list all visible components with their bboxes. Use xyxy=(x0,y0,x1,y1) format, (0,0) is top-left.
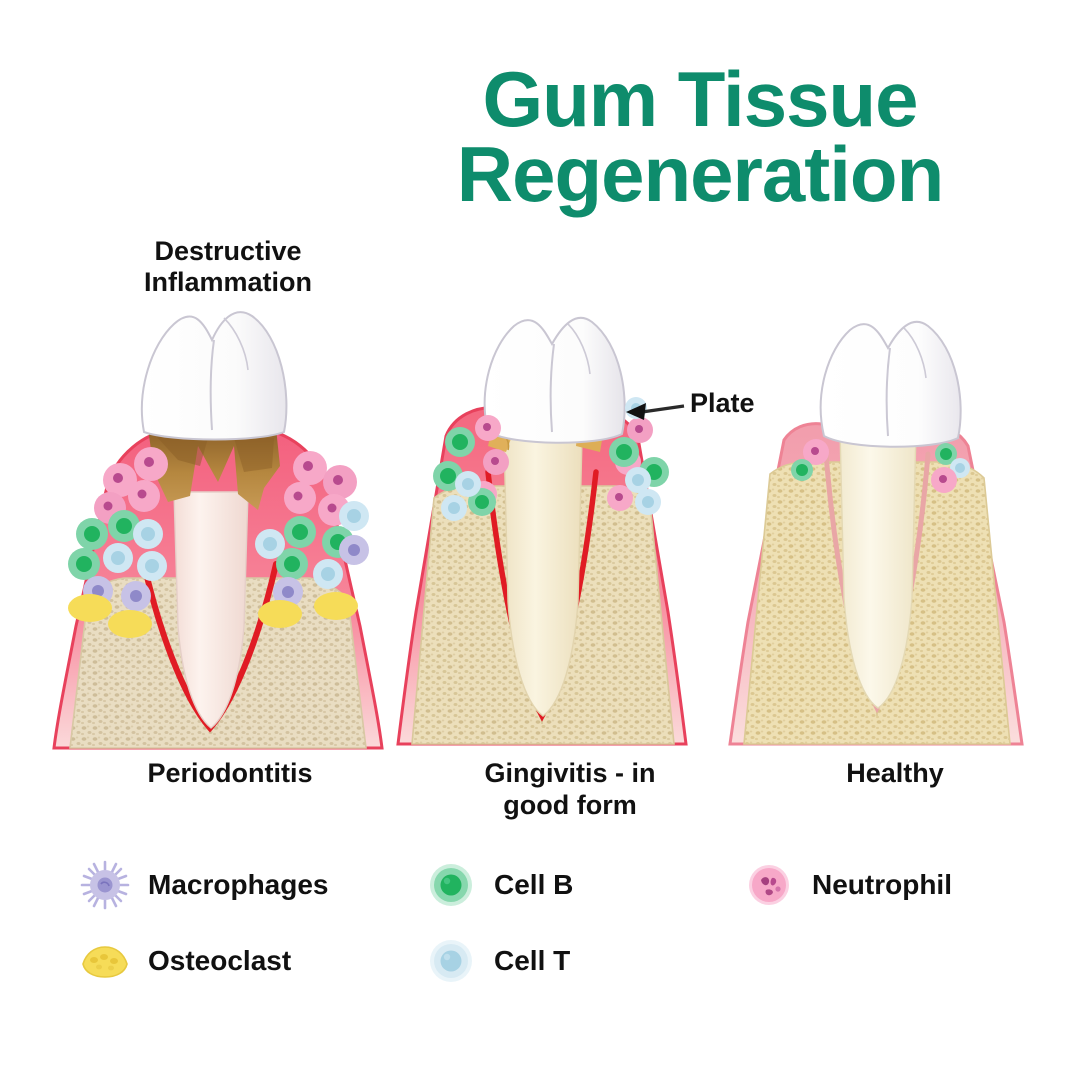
legend-label-cell-b: Cell B xyxy=(494,869,573,901)
plate-label: Plate xyxy=(690,388,755,419)
caption-gingivitis: Gingivitis - in good form xyxy=(410,758,730,822)
legend-label-cell-t: Cell T xyxy=(494,945,570,977)
destructive-inflammation-label: Destructive Inflammation xyxy=(88,236,368,298)
legend-item-osteoclast: Osteoclast xyxy=(78,934,291,988)
tooth-crown xyxy=(485,318,625,443)
legend-item-cell-b: Cell B xyxy=(424,858,573,912)
macrophage-cell-icon xyxy=(78,858,132,912)
caption-healthy: Healthy xyxy=(770,758,1020,790)
legend-label-neutrophil: Neutrophil xyxy=(812,869,952,901)
tooth-figure-healthy xyxy=(722,312,1032,752)
tooth-crown xyxy=(142,312,287,439)
caption-periodontitis-line-1: Periodontitis xyxy=(147,758,312,788)
caption-gingivitis-line-2: good form xyxy=(503,790,636,820)
osteoclast-cell-icon xyxy=(78,934,132,988)
caption-gingivitis-line-1: Gingivitis - in xyxy=(484,758,655,788)
tooth-figure-gingivitis xyxy=(392,312,692,752)
page-title: Gum Tissue Regeneration xyxy=(380,62,1020,212)
page-title-line-2: Regeneration xyxy=(380,137,1020,212)
tooth-crown xyxy=(821,322,961,447)
destructive-inflammation-line-1: Destructive xyxy=(154,236,301,266)
destructive-inflammation-line-2: Inflammation xyxy=(144,267,312,297)
infographic-canvas: Gum Tissue Regeneration Destructive Infl… xyxy=(0,0,1080,1080)
t-cell-icon xyxy=(424,934,478,988)
legend-label-osteoclast: Osteoclast xyxy=(148,945,291,977)
neutrophil-cell-icon xyxy=(742,858,796,912)
caption-periodontitis: Periodontitis xyxy=(80,758,380,790)
page-title-line-1: Gum Tissue xyxy=(380,62,1020,137)
legend-item-neutrophil: Neutrophil xyxy=(742,858,952,912)
caption-healthy-line-1: Healthy xyxy=(846,758,944,788)
tooth-figure-periodontitis xyxy=(48,296,388,756)
plate-arrow-icon xyxy=(622,396,686,424)
legend-item-cell-t: Cell T xyxy=(424,934,570,988)
legend-label-macrophages: Macrophages xyxy=(148,869,329,901)
legend-item-macrophages: Macrophages xyxy=(78,858,329,912)
b-cell-icon xyxy=(424,858,478,912)
